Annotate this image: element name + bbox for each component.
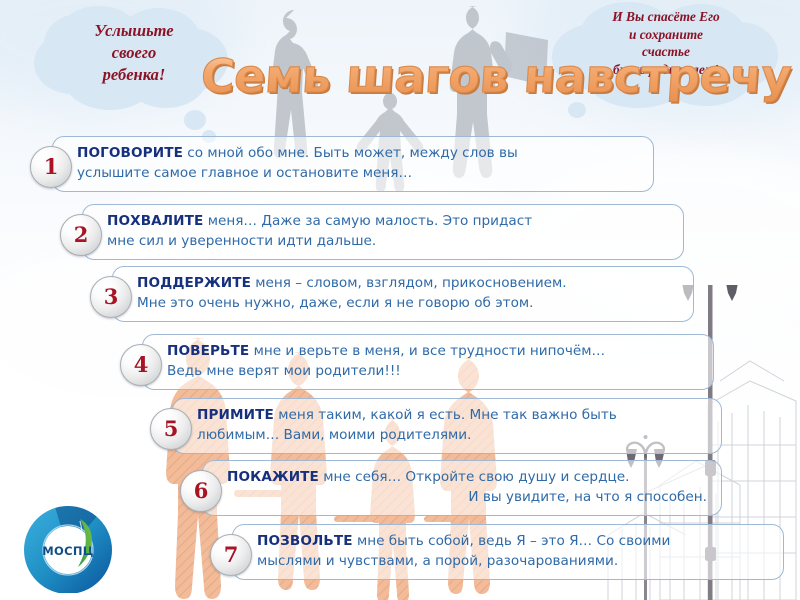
step-number-badge-2: 2	[60, 214, 102, 256]
step-text-box-7[interactable]: ПОЗВОЛЬТЕ мне быть собой, ведь Я – это Я…	[232, 524, 784, 580]
mospc-logo: МОСПЦ	[22, 505, 114, 593]
step-number-badge-1: 1	[30, 146, 72, 188]
step-number-badge-6: 6	[180, 470, 222, 512]
step-line-3a: ПОДДЕРЖИТЕ меня – словом, взглядом, прик…	[137, 274, 679, 294]
step-line-4a: ПОВЕРЬТЕ мне и верьте в меня, и все труд…	[167, 342, 699, 362]
step-text-box-4[interactable]: ПОВЕРЬТЕ мне и верьте в меня, и все труд…	[142, 334, 714, 390]
step-line-4b: Ведь мне верят мои родители!!!	[167, 362, 699, 382]
step-number-badge-7: 7	[210, 534, 252, 576]
step-text-box-1[interactable]: ПОГОВОРИТЕ со мной обо мне. Быть может, …	[52, 136, 654, 192]
step-text-box-3[interactable]: ПОДДЕРЖИТЕ меня – словом, взглядом, прик…	[112, 266, 694, 322]
grey-silhouettes-group	[230, 0, 560, 226]
step-number-badge-4: 4	[120, 344, 162, 386]
left-bubble-text: Услышьте своего ребенка!	[58, 20, 210, 85]
step-line-5a: ПРИМИТЕ меня таким, какой я есть. Мне та…	[197, 406, 707, 426]
step-line-5b: любимым… Вами, моими родителями.	[197, 426, 707, 446]
step-text-box-2[interactable]: ПОХВАЛИТЕ меня… Даже за самую малость. Э…	[82, 204, 684, 260]
step-line-7b: мыслями и чувствами, а порой, разочарова…	[257, 552, 769, 572]
poster-canvas: Услышьте своего ребенка! И Вы спасёте Ег…	[0, 0, 800, 600]
step-line-2a: ПОХВАЛИТЕ меня… Даже за самую малость. Э…	[107, 212, 669, 232]
step-text-box-6[interactable]: ПОКАЖИТЕ мне себя… Откройте свою душу и …	[202, 460, 722, 516]
poster-title: Семь шагов навстречу Семь шагов навстреч…	[196, 36, 596, 110]
step-text-box-5[interactable]: ПРИМИТЕ меня таким, какой я есть. Мне та…	[172, 398, 722, 454]
step-line-2b: мне сил и уверенности идти дальше.	[107, 232, 669, 252]
logo-abbreviation: МОСПЦ	[42, 544, 93, 558]
step-line-1a: ПОГОВОРИТЕ со мной обо мне. Быть может, …	[77, 144, 639, 164]
title-text: Семь шагов навстречу	[199, 49, 793, 103]
step-line-6a: ПОКАЖИТЕ мне себя… Откройте свою душу и …	[227, 468, 707, 488]
step-line-3b: Мне это очень нужно, даже, если я не гов…	[137, 294, 679, 314]
step-number-badge-3: 3	[90, 276, 132, 318]
step-line-7a: ПОЗВОЛЬТЕ мне быть собой, ведь Я – это Я…	[257, 532, 769, 552]
step-line-6b: И вы увидите, на что я способен.	[227, 488, 707, 508]
step-line-1b: услышите самое главное и остановите меня…	[77, 164, 639, 184]
step-number-badge-5: 5	[150, 408, 192, 450]
